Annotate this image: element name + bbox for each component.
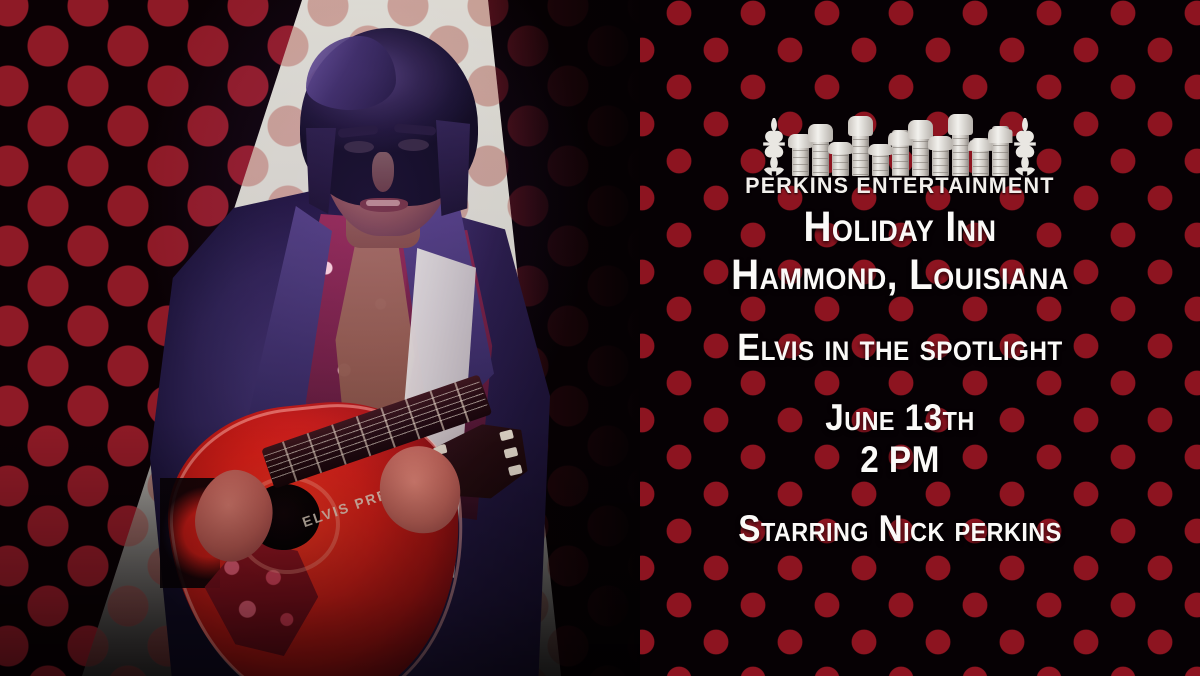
logo-graphic-row [762, 108, 1039, 176]
venue-city: Hammond, Louisiana [630, 253, 1170, 299]
performer-eye-right [398, 139, 429, 151]
performer-eye-left [344, 141, 374, 153]
info-panel: PERKINS ENTERTAINMENT Holiday Inn Hammon… [600, 0, 1200, 676]
venue-name: Holiday Inn [630, 205, 1170, 251]
fleur-de-lis-icon-right [1013, 118, 1039, 176]
event-date: June 13th [630, 398, 1170, 437]
performer-sideburn-right [436, 120, 470, 216]
performer-nose [372, 152, 394, 192]
performer-teeth [366, 200, 400, 206]
starring-credit: Starring Nick perkins [630, 509, 1170, 548]
performer-hair-highlight [306, 36, 396, 110]
show-title: Elvis in the spotlight [630, 328, 1170, 368]
fleur-de-lis-icon-left [762, 118, 788, 176]
event-poster: ELVIS PRES [0, 0, 1200, 676]
performer-image: ELVIS PRES [0, 0, 640, 676]
event-details: Holiday Inn Hammond, Louisiana Elvis in … [600, 205, 1200, 548]
perkins-entertainment-logo: PERKINS ENTERTAINMENT [600, 108, 1200, 199]
event-time: 2 PM [630, 440, 1170, 479]
logo-wordmark: PERKINS ENTERTAINMENT [745, 173, 1054, 199]
guitar-headstock-row-icon [792, 108, 1009, 176]
